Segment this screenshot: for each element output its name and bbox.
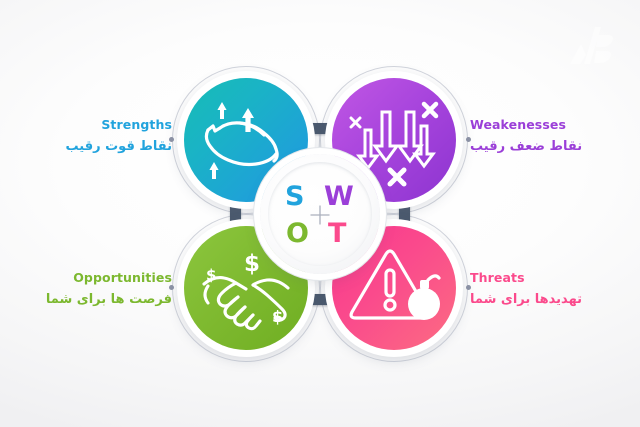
- ring-dot-left-bottom: [169, 285, 174, 290]
- svg-text:$: $: [244, 251, 260, 277]
- plus-crosshair-icon: [309, 204, 331, 226]
- label-strengths: Strengths نقاط قوت رقیب: [0, 117, 172, 156]
- label-strengths-fa: نقاط قوت رقیب: [0, 139, 172, 156]
- swot-center-face: S W O T: [268, 162, 372, 266]
- label-weaknesses-fa: نقاط ضعف رقیب: [470, 139, 640, 156]
- label-threats-fa: تهدیدها برای شما: [470, 292, 640, 309]
- label-threats: Threats تهدیدها برای شما: [470, 270, 640, 309]
- label-opportunities-en: Opportunities: [0, 270, 172, 286]
- label-weaknesses: Weakenesses نقاط ضعف رقیب: [470, 117, 640, 156]
- label-threats-en: Threats: [470, 270, 640, 286]
- swot-letter-s: S: [285, 183, 304, 210]
- label-opportunities-fa: فرصت ها برای شما: [0, 292, 172, 309]
- swot-center-hub: S W O T: [260, 154, 380, 274]
- svg-text:$: $: [272, 307, 283, 326]
- label-weaknesses-en: Weakenesses: [470, 117, 640, 133]
- brand-logo-watermark-icon: [568, 24, 614, 68]
- ring-dot-right-top: [466, 137, 471, 142]
- svg-text:$: $: [206, 266, 216, 284]
- swot-wheel: $ $ $: [172, 66, 468, 362]
- swot-diagram-canvas: Strengths نقاط قوت رقیب Opportunities فر…: [0, 0, 640, 427]
- ring-dot-right-bottom: [466, 285, 471, 290]
- label-opportunities: Opportunities فرصت ها برای شما: [0, 270, 172, 309]
- swot-letter-o: O: [286, 220, 309, 247]
- ring-dot-left-top: [169, 137, 174, 142]
- label-strengths-en: Strengths: [0, 117, 172, 133]
